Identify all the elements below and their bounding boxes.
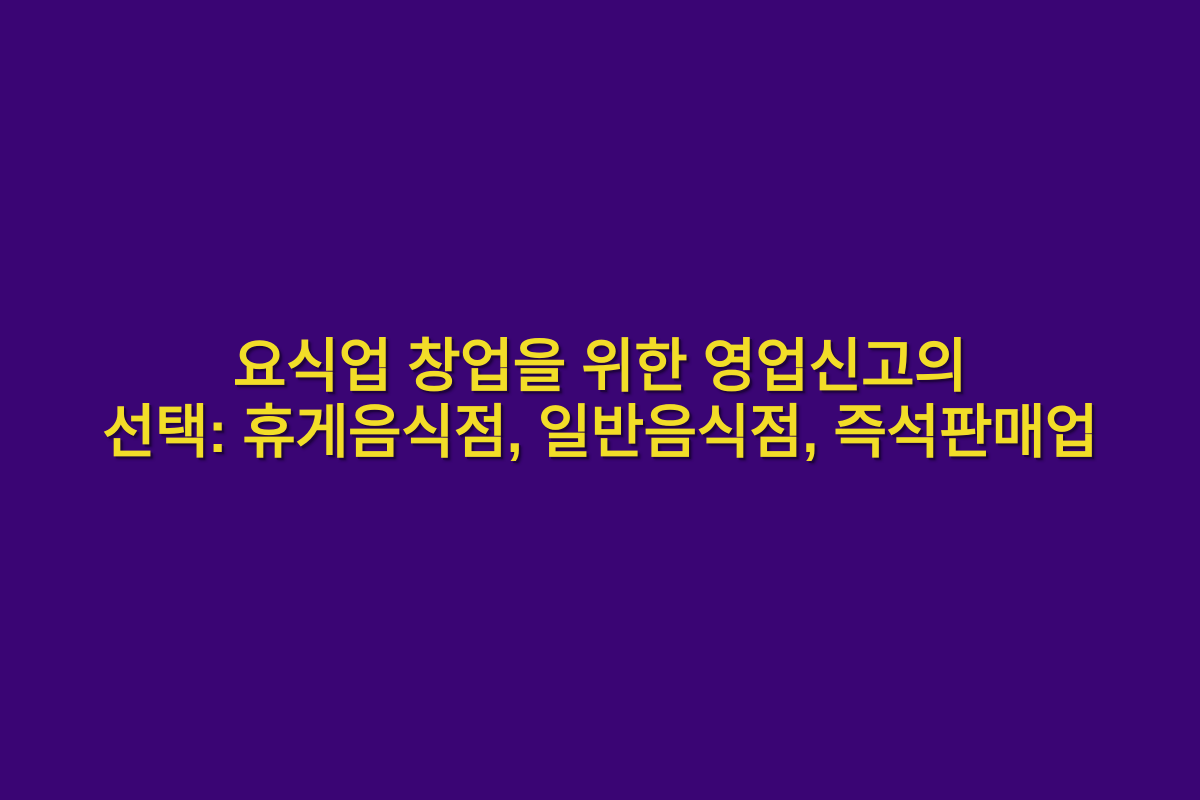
title-line-1: 요식업 창업을 위한 영업신고의 [0,334,1200,400]
banner-canvas: 요식업 창업을 위한 영업신고의 선택: 휴게음식점, 일반음식점, 즉석판매업 [0,0,1200,800]
page-title: 요식업 창업을 위한 영업신고의 선택: 휴게음식점, 일반음식점, 즉석판매업 [0,334,1200,466]
title-line-2: 선택: 휴게음식점, 일반음식점, 즉석판매업 [0,400,1200,466]
